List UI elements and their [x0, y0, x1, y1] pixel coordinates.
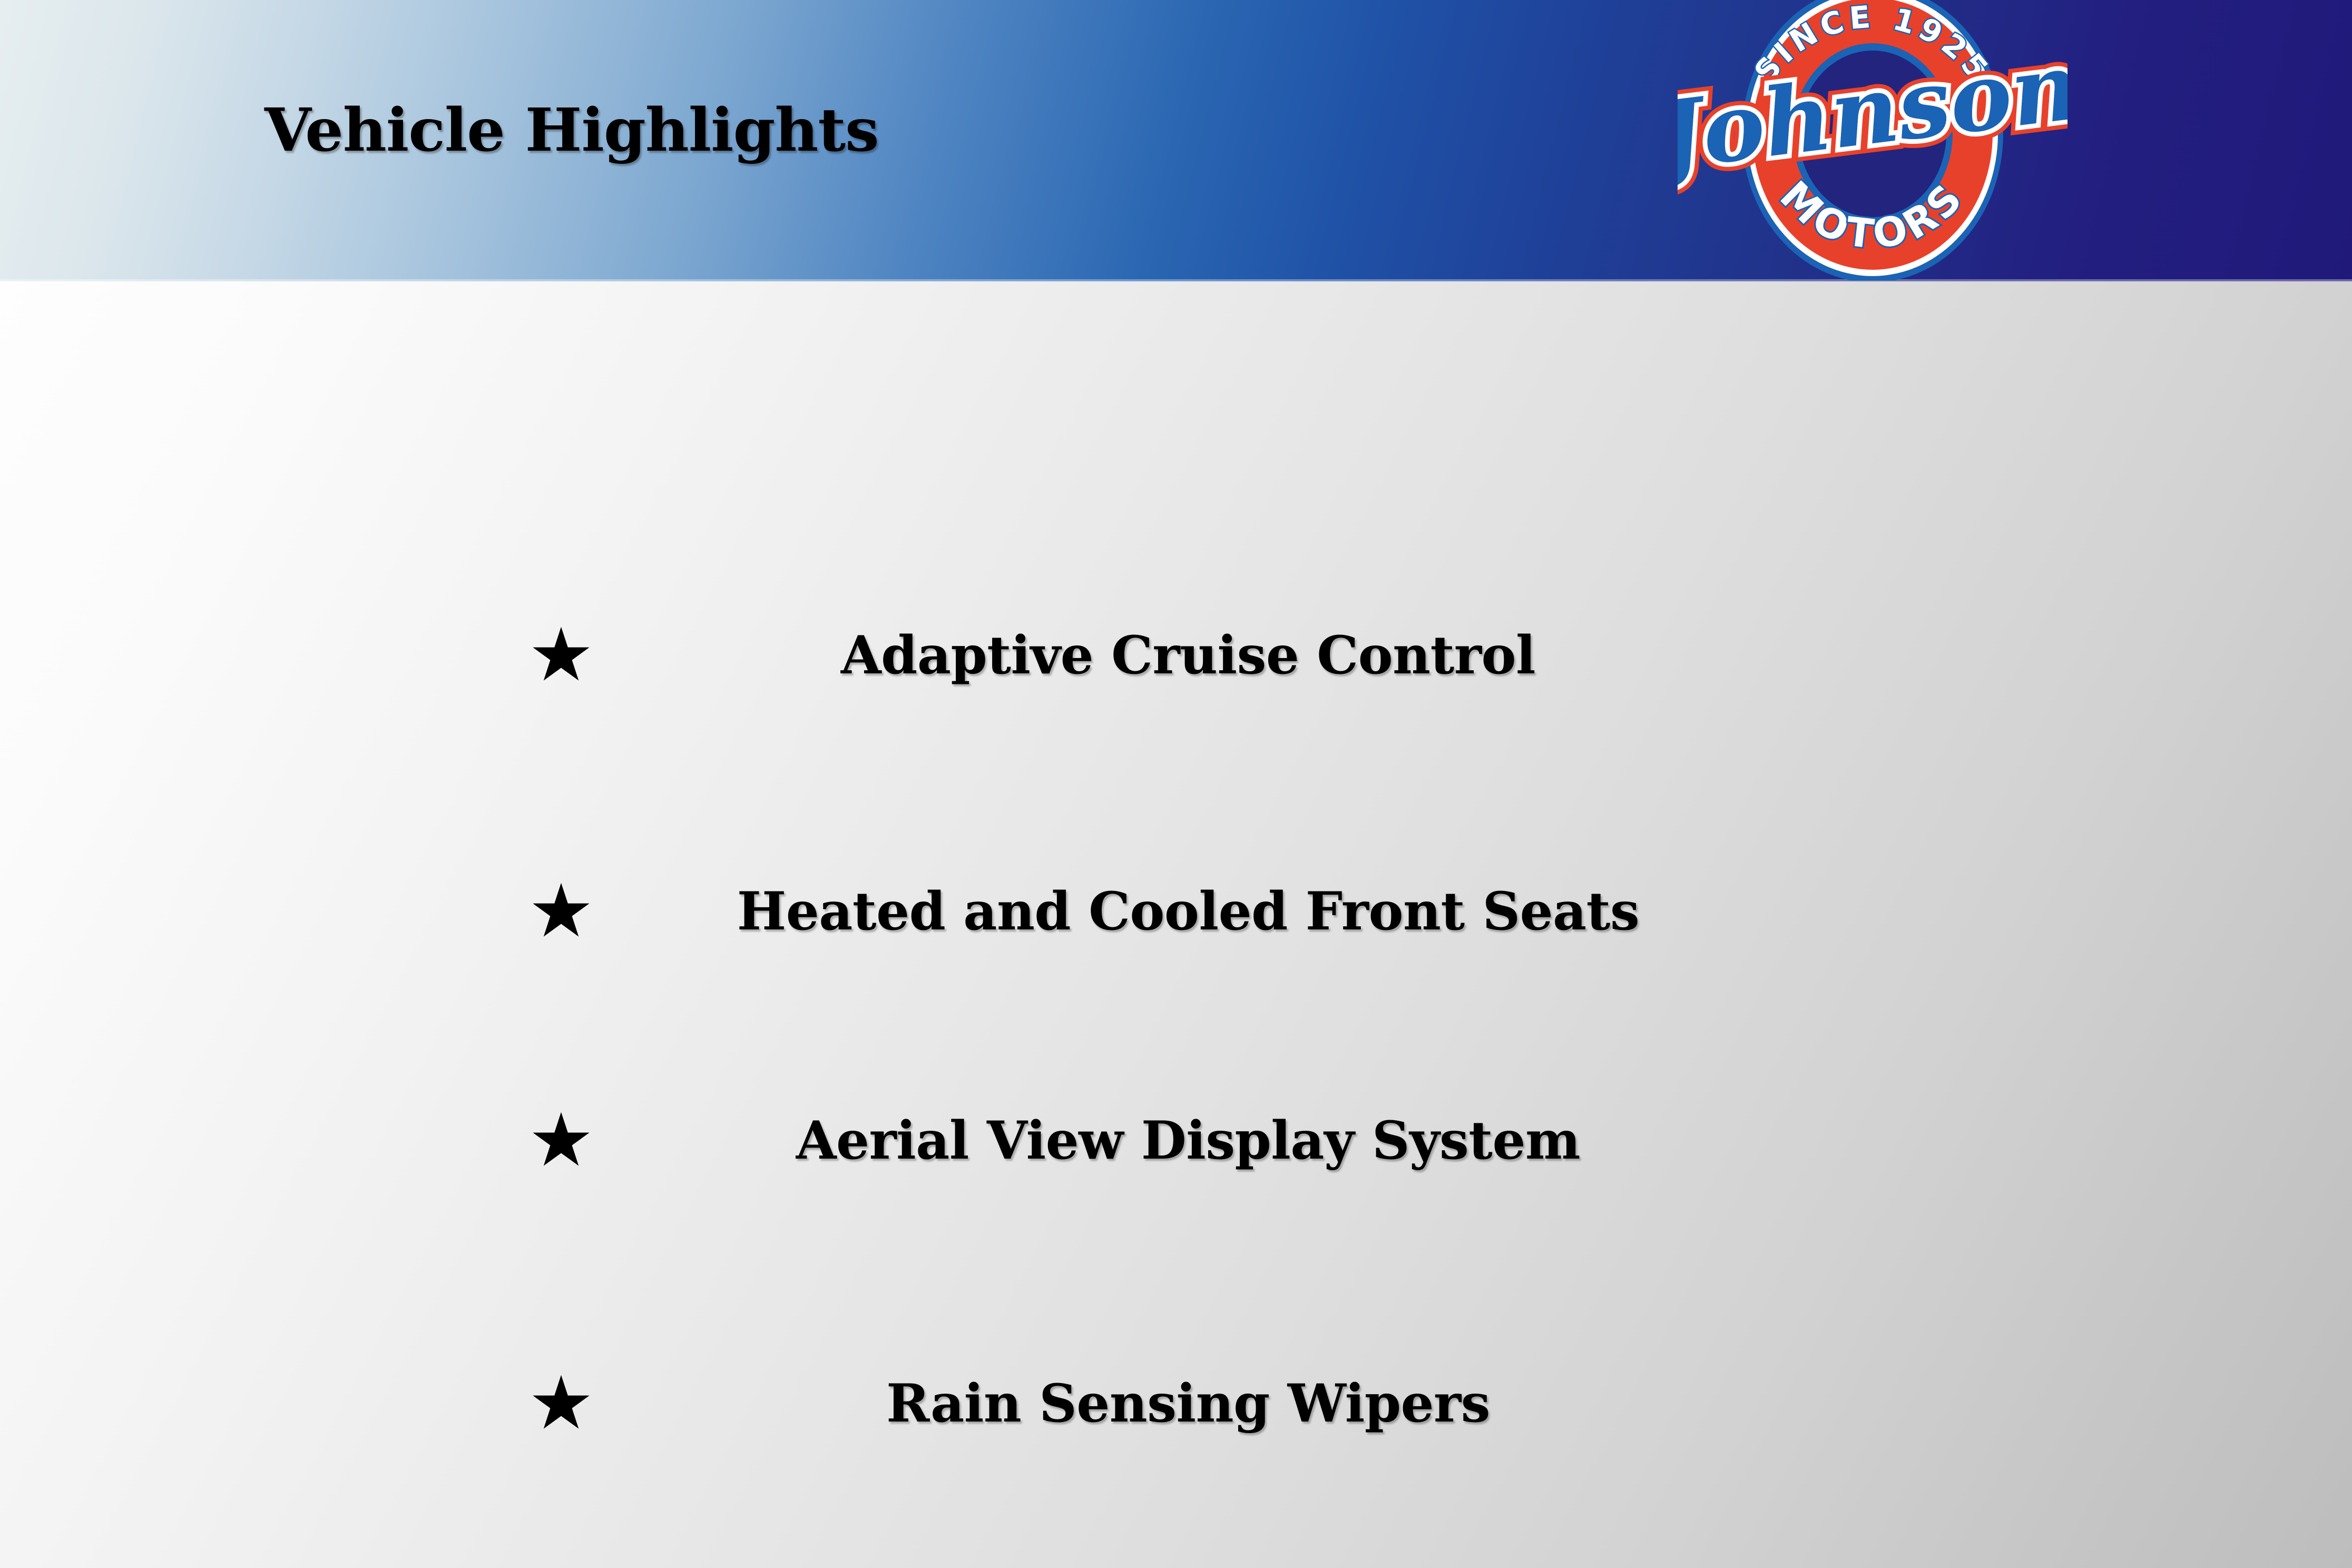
list-item-label: Heated and Cooled Front Seats: [711, 883, 1665, 940]
list-item-label: Aerial View Display System: [711, 1112, 1665, 1169]
list-item-label: Adaptive Cruise Control: [711, 627, 1665, 684]
star-icon: ★: [522, 1104, 601, 1178]
page-title: Vehicle Highlights: [264, 98, 878, 163]
highlights-list: ★ Adaptive Cruise Control ★ Heated and C…: [0, 281, 2352, 1568]
slide-root: Vehicle Highlights SINCE 1925: [0, 0, 2352, 1568]
star-icon: ★: [522, 875, 601, 948]
list-item-label: Rain Sensing Wipers: [711, 1375, 1665, 1432]
johnson-motors-logo: SINCE 1925 MOTORS Johnson Johnson Johnso…: [1678, 0, 2067, 280]
star-icon: ★: [522, 1367, 601, 1440]
star-icon: ★: [522, 619, 601, 692]
